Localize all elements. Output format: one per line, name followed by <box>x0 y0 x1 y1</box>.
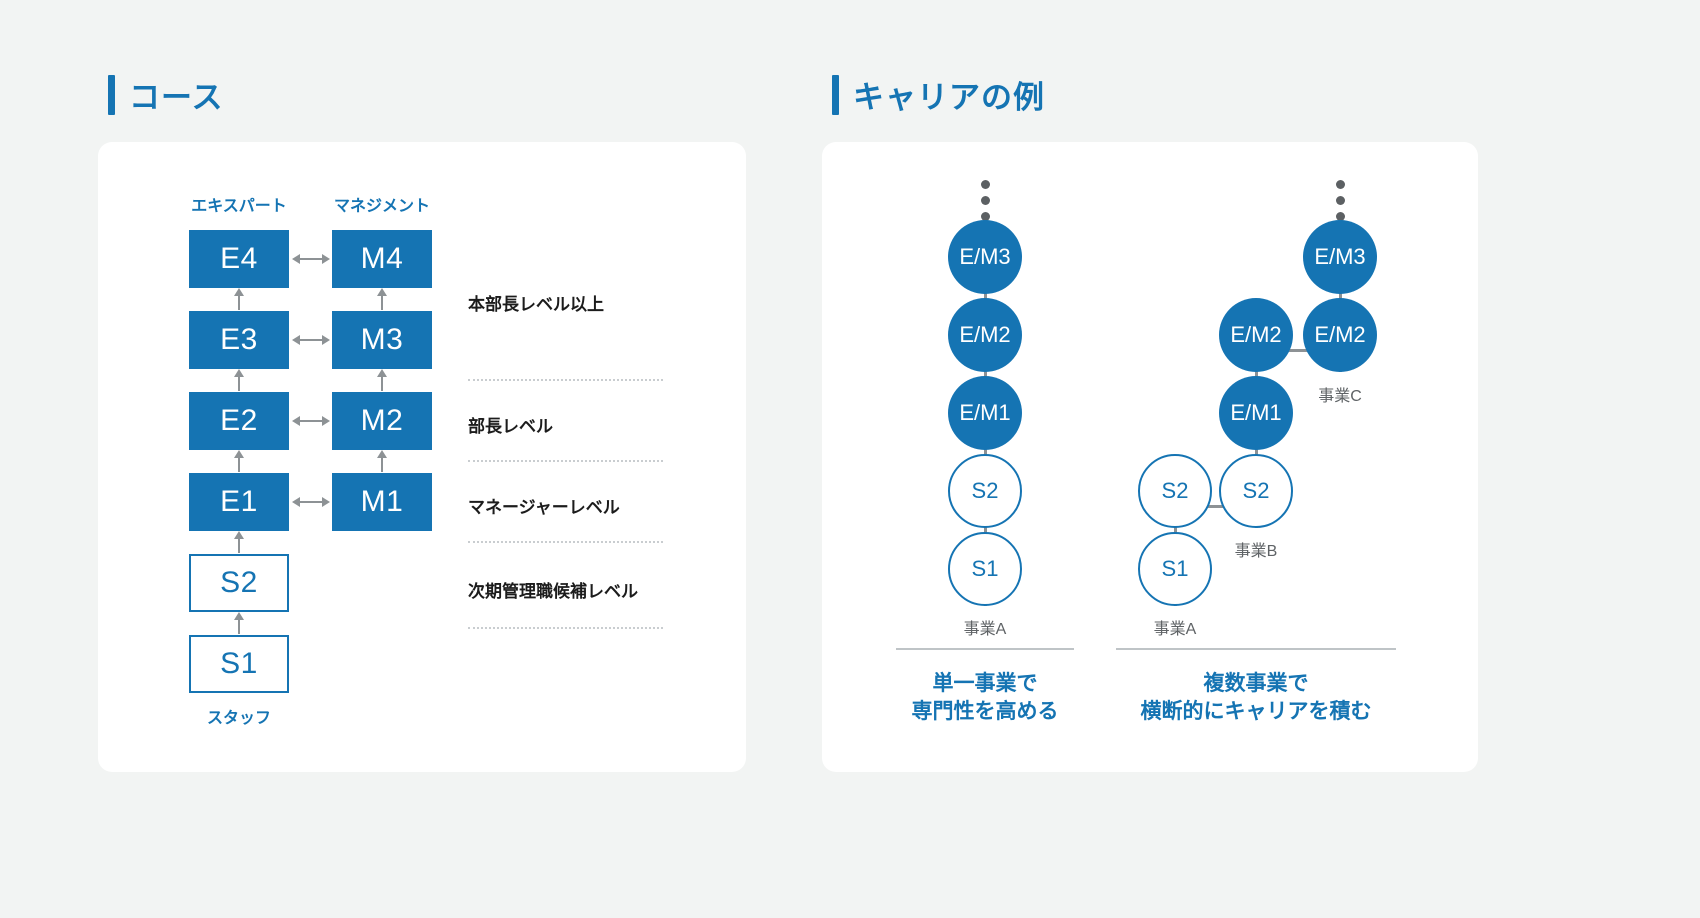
career-node-multi-s2-b[interactable]: S2 <box>1219 454 1293 528</box>
level-box-e2[interactable]: E2 <box>189 392 289 450</box>
career-node-multi-em3-c[interactable]: E/M3 <box>1303 220 1377 294</box>
heading-accent-bar <box>108 75 115 115</box>
career-caption-single: 単一事業で 専門性を高める <box>896 670 1074 727</box>
section-heading-career: キャリアの例 <box>832 72 1045 117</box>
arrow-up-s2-e1-icon <box>238 538 240 553</box>
level-note-3: 次期管理職候補レベル <box>468 577 638 602</box>
arrow-up-m1-m2-icon <box>381 457 383 472</box>
career-node-single-s2[interactable]: S2 <box>948 454 1022 528</box>
level-box-m4[interactable]: M4 <box>332 230 432 288</box>
business-label-multi-b: 事業B <box>1206 537 1306 561</box>
career-card: E/M3 E/M2 E/M1 S2 S1 事業A 単一事業で 専門性を高める <box>822 142 1478 772</box>
level-note-2: マネージャーレベル <box>468 493 620 518</box>
level-divider-2 <box>468 541 663 543</box>
course-card: エキスパート マネジメント E4 E3 E2 E1 M4 M3 M2 M1 S2… <box>98 142 746 772</box>
career-node-single-em1[interactable]: E/M1 <box>948 376 1022 450</box>
career-caption-multi: 複数事業で 横断的にキャリアを積む <box>1116 670 1396 727</box>
career-node-single-em2[interactable]: E/M2 <box>948 298 1022 372</box>
heading-accent-bar-career <box>832 75 839 115</box>
continuation-dot-icon <box>1336 180 1345 189</box>
career-node-multi-em1-b[interactable]: E/M1 <box>1219 376 1293 450</box>
column-title-expert: エキスパート <box>189 192 289 216</box>
level-divider-1 <box>468 460 663 462</box>
level-divider-0 <box>468 379 663 381</box>
continuation-dot-icon <box>1336 196 1345 205</box>
business-label-single-a: 事業A <box>935 615 1035 639</box>
page-title-career: キャリアの例 <box>853 72 1045 117</box>
arrow-up-e1-e2-icon <box>238 457 240 472</box>
career-node-single-s1[interactable]: S1 <box>948 532 1022 606</box>
arrow-lr-e2-m2-icon <box>299 420 323 422</box>
level-box-m1[interactable]: M1 <box>332 473 432 531</box>
level-box-e4[interactable]: E4 <box>189 230 289 288</box>
page-title-course: コース <box>129 72 223 117</box>
arrow-lr-e1-m1-icon <box>299 501 323 503</box>
arrow-up-e2-e3-icon <box>238 376 240 391</box>
column-title-management: マネジメント <box>332 192 432 216</box>
level-note-1: 部長レベル <box>468 412 553 437</box>
career-node-multi-em2-c[interactable]: E/M2 <box>1303 298 1377 372</box>
level-box-m3[interactable]: M3 <box>332 311 432 369</box>
section-heading-course: コース <box>108 72 223 117</box>
career-node-multi-s2-a[interactable]: S2 <box>1138 454 1212 528</box>
business-label-multi-a: 事業A <box>1125 615 1225 639</box>
level-note-0: 本部長レベル以上 <box>468 290 604 315</box>
arrow-lr-e3-m3-icon <box>299 339 323 341</box>
caption-divider-single <box>896 648 1074 650</box>
caption-divider-multi <box>1116 648 1396 650</box>
career-node-multi-s1-a[interactable]: S1 <box>1138 532 1212 606</box>
continuation-dot-icon <box>981 196 990 205</box>
level-divider-3 <box>468 627 663 629</box>
business-label-multi-c: 事業C <box>1290 382 1390 406</box>
staff-column-label: スタッフ <box>189 704 289 728</box>
arrow-up-s1-s2-icon <box>238 619 240 634</box>
continuation-dot-icon <box>981 180 990 189</box>
career-node-multi-em2-b[interactable]: E/M2 <box>1219 298 1293 372</box>
arrow-up-m3-m4-icon <box>381 295 383 310</box>
level-box-m2[interactable]: M2 <box>332 392 432 450</box>
level-box-e3[interactable]: E3 <box>189 311 289 369</box>
level-box-e1[interactable]: E1 <box>189 473 289 531</box>
career-node-single-em3[interactable]: E/M3 <box>948 220 1022 294</box>
level-box-s2[interactable]: S2 <box>189 554 289 612</box>
arrow-up-e3-e4-icon <box>238 295 240 310</box>
arrow-lr-e4-m4-icon <box>299 258 323 260</box>
page-root: コース エキスパート マネジメント E4 E3 E2 E1 M4 M3 M2 M… <box>0 0 1700 918</box>
level-box-s1[interactable]: S1 <box>189 635 289 693</box>
arrow-up-m2-m3-icon <box>381 376 383 391</box>
